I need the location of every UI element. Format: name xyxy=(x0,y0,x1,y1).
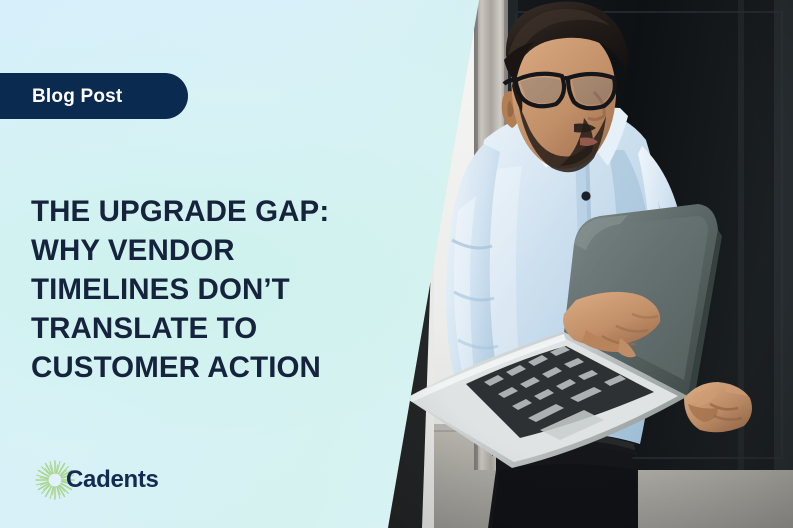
blog-post-badge: Blog Post xyxy=(0,73,188,119)
badge-label: Blog Post xyxy=(32,87,122,106)
brand-logo[interactable]: Cadents xyxy=(33,458,159,502)
blog-post-feature-card: Blog Post THE UPGRADE GAP: WHY VENDOR TI… xyxy=(0,0,793,528)
page-title: THE UPGRADE GAP: WHY VENDOR TIMELINES DO… xyxy=(31,192,376,387)
hero-photo xyxy=(388,0,793,528)
logo-wordmark: Cadents xyxy=(66,468,159,492)
